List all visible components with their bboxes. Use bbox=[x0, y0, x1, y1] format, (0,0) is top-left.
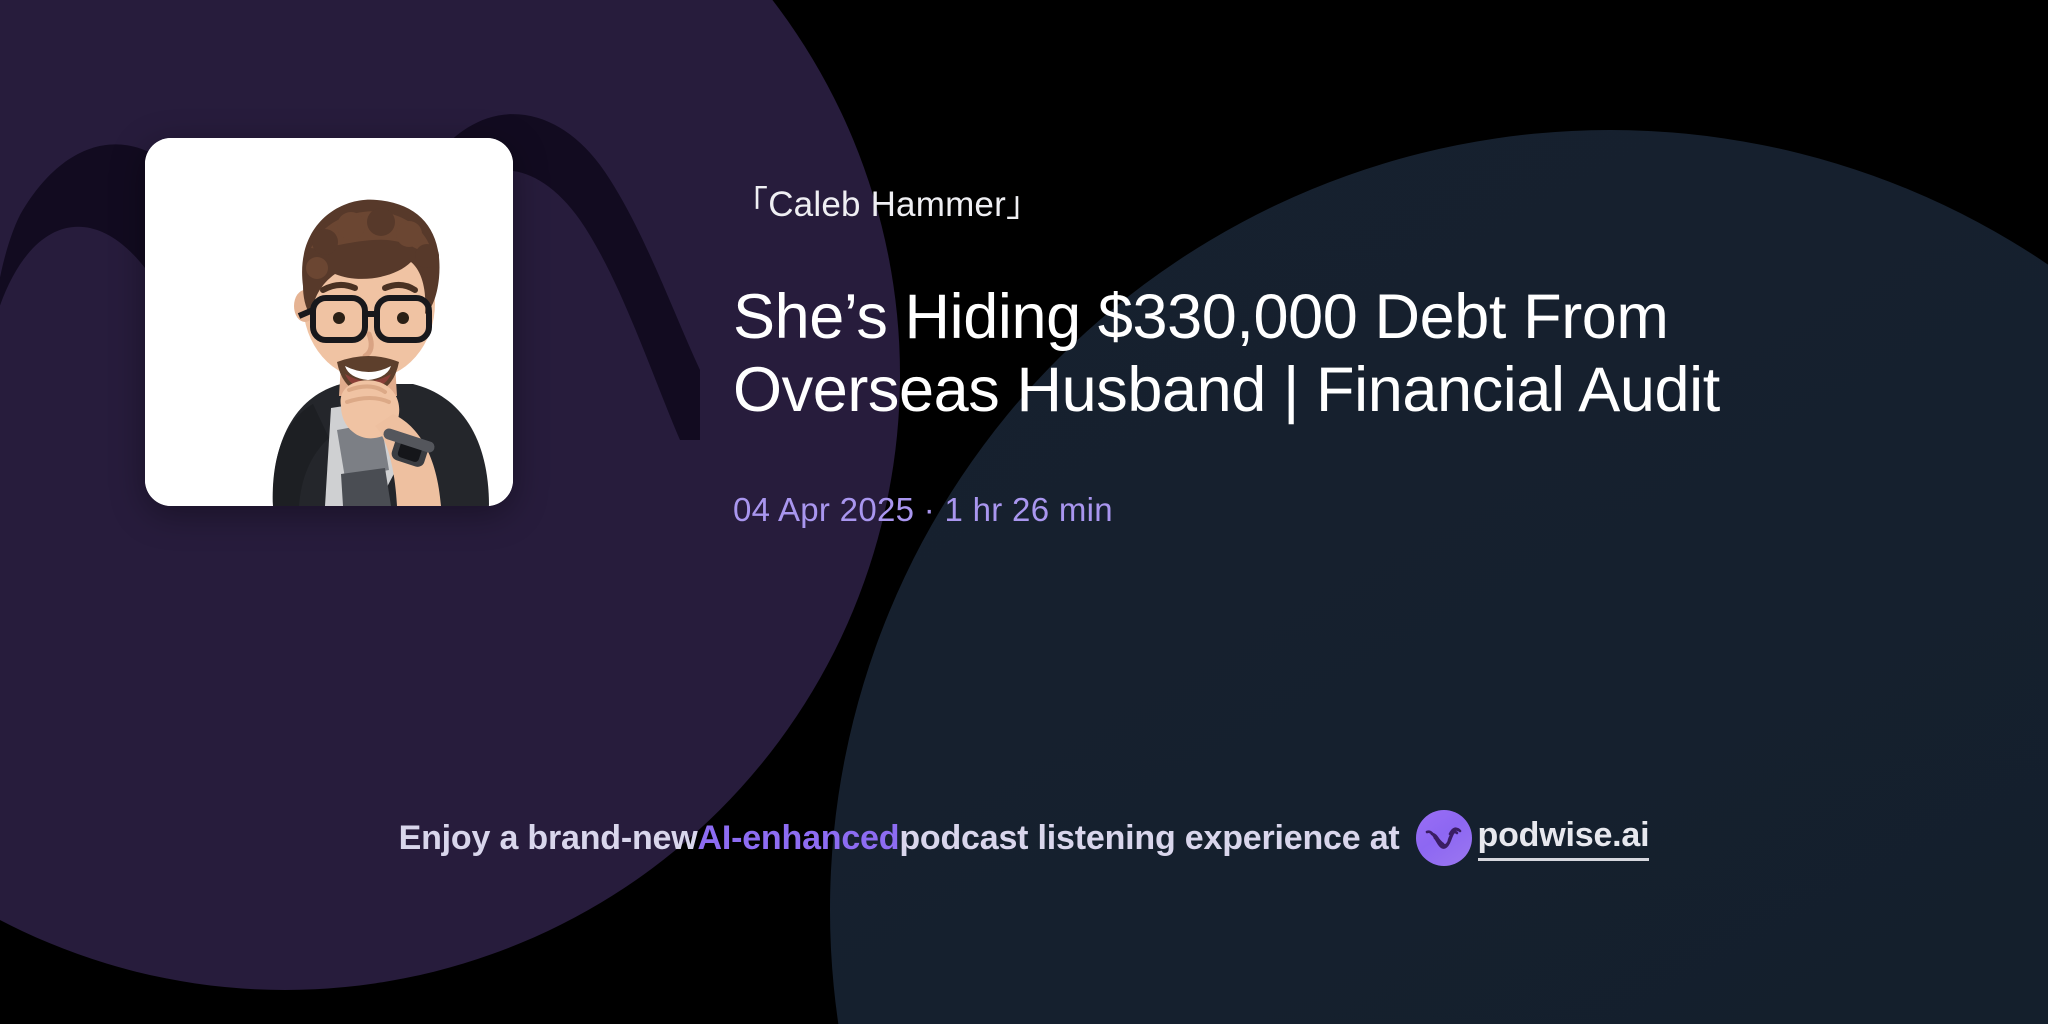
promo-text: Enjoy a brand-new AI-enhanced podcast li… bbox=[399, 810, 1650, 866]
episode-meta: 「Caleb Hammer」 She’s Hiding $330,000 Deb… bbox=[733, 186, 1963, 529]
cover-artwork bbox=[145, 138, 513, 506]
promo-tail: podcast listening experience at bbox=[899, 819, 1399, 858]
promo-lead: Enjoy a brand-new bbox=[399, 819, 698, 858]
podwise-link[interactable]: podwise.ai bbox=[1478, 816, 1650, 861]
podwise-logo-icon bbox=[1416, 810, 1472, 866]
episode-title: She’s Hiding $330,000 Debt From Overseas… bbox=[733, 281, 1913, 427]
podcast-share-card: 「Caleb Hammer」 She’s Hiding $330,000 Deb… bbox=[0, 0, 2048, 1024]
podcast-name: 「Caleb Hammer」 bbox=[733, 186, 1963, 225]
episode-date-duration: 04 Apr 2025 · 1 hr 26 min bbox=[733, 491, 1963, 529]
promo-highlight: AI-enhanced bbox=[698, 819, 900, 858]
promo-banner: Enjoy a brand-new AI-enhanced podcast li… bbox=[0, 810, 2048, 866]
